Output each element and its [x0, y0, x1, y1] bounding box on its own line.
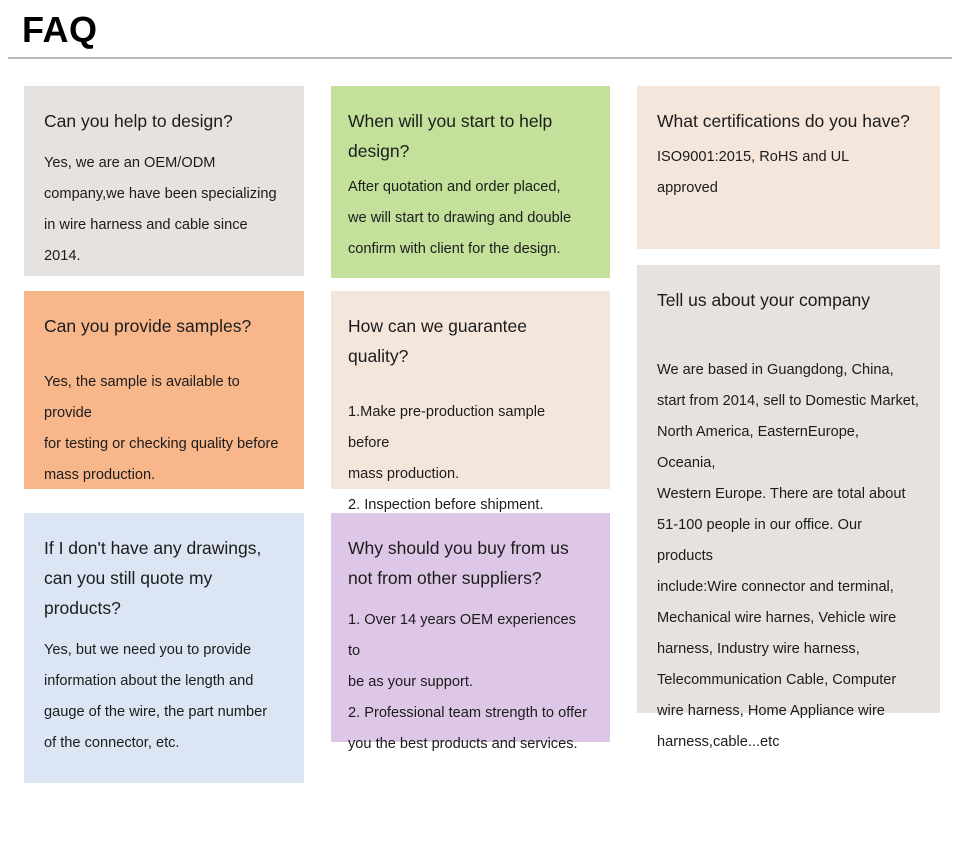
- faq-question: What certifications do you have?: [657, 106, 920, 136]
- faq-card-guarantee-quality[interactable]: How can we guarantee quality? 1.Make pre…: [331, 291, 610, 489]
- faq-answer: 1.Make pre-production sample before mass…: [348, 371, 590, 521]
- faq-question: Can you help to design?: [44, 106, 284, 136]
- faq-card-no-drawings-quote[interactable]: If I don't have any drawings, can you st…: [24, 513, 304, 783]
- faq-question: When will you start to help design?: [348, 106, 590, 166]
- faq-answer: ISO9001:2015, RoHS and UL approved: [657, 136, 920, 204]
- faq-answer: 1. Over 14 years OEM experiences to be a…: [348, 593, 590, 760]
- faq-answer: We are based in Guangdong, China, start …: [657, 315, 920, 758]
- faq-answer: Yes, we are an OEM/ODM company,we have b…: [44, 136, 284, 272]
- faq-card-help-to-design[interactable]: Can you help to design? Yes, we are an O…: [24, 86, 304, 276]
- faq-answer: Yes, but we need you to provide informat…: [44, 623, 284, 759]
- faq-question: How can we guarantee quality?: [348, 311, 590, 371]
- faq-question: If I don't have any drawings, can you st…: [44, 533, 284, 623]
- faq-card-grid: Can you help to design? Yes, we are an O…: [0, 0, 960, 842]
- faq-answer: Yes, the sample is available to provide …: [44, 341, 284, 491]
- faq-card-certifications[interactable]: What certifications do you have? ISO9001…: [637, 86, 940, 249]
- faq-question: Tell us about your company: [657, 285, 920, 315]
- faq-question: Why should you buy from us not from othe…: [348, 533, 590, 593]
- faq-card-provide-samples[interactable]: Can you provide samples? Yes, the sample…: [24, 291, 304, 489]
- faq-answer: After quotation and order placed, we wil…: [348, 166, 590, 265]
- faq-card-about-company[interactable]: Tell us about your company We are based …: [637, 265, 940, 713]
- faq-question: Can you provide samples?: [44, 311, 284, 341]
- faq-card-when-start-design[interactable]: When will you start to help design? Afte…: [331, 86, 610, 278]
- faq-card-why-buy-from-us[interactable]: Why should you buy from us not from othe…: [331, 513, 610, 742]
